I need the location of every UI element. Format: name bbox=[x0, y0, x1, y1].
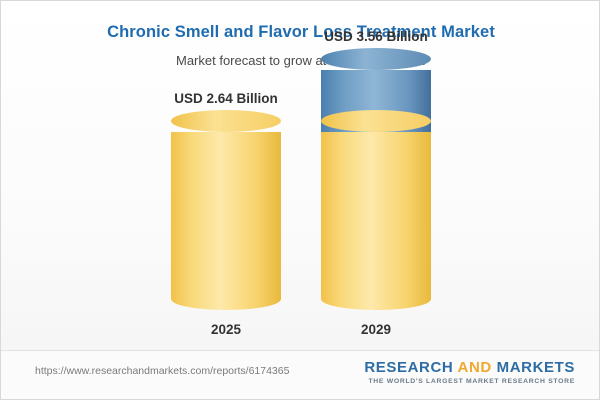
chart-subtitle: Market forecast to grow at a CAGR of 7.7… bbox=[1, 53, 600, 68]
footer: https://www.researchandmarkets.com/repor… bbox=[1, 350, 600, 399]
bar-2025-body bbox=[171, 132, 281, 299]
bar-2029-top-cap bbox=[321, 48, 431, 70]
bar-2025-top-cap bbox=[171, 110, 281, 132]
brand-tagline: THE WORLD'S LARGEST MARKET RESEARCH STOR… bbox=[364, 378, 575, 385]
brand-name-and: AND bbox=[453, 359, 496, 376]
bar-2029-segment-divider bbox=[321, 110, 431, 132]
brand-name: RESEARCH AND MARKETS bbox=[364, 359, 575, 376]
brand-logo: RESEARCH AND MARKETS THE WORLD'S LARGEST… bbox=[364, 359, 575, 385]
category-label-2029: 2029 bbox=[266, 322, 486, 337]
source-url-link[interactable]: https://www.researchandmarkets.com/repor… bbox=[35, 365, 289, 377]
bar-2029-body-base bbox=[321, 132, 431, 299]
bar-group-2025: USD 2.64 Billion 2025 bbox=[171, 121, 281, 299]
brand-name-research: RESEARCH bbox=[364, 359, 453, 376]
bar-group-2029: USD 3.56 Billion 2029 bbox=[321, 59, 431, 299]
bar-value-label-2025: USD 2.64 Billion bbox=[116, 91, 336, 106]
chart-card: Chronic Smell and Flavor Loss Treatment … bbox=[0, 0, 600, 400]
bar-value-label-2029: USD 3.56 Billion bbox=[266, 29, 486, 44]
brand-name-markets: MARKETS bbox=[497, 359, 575, 376]
chart-plot-area: USD 2.64 Billion 2025 USD 3.56 Billion 2… bbox=[1, 81, 600, 351]
bar-2025 bbox=[171, 121, 281, 299]
bar-2029 bbox=[321, 59, 431, 299]
